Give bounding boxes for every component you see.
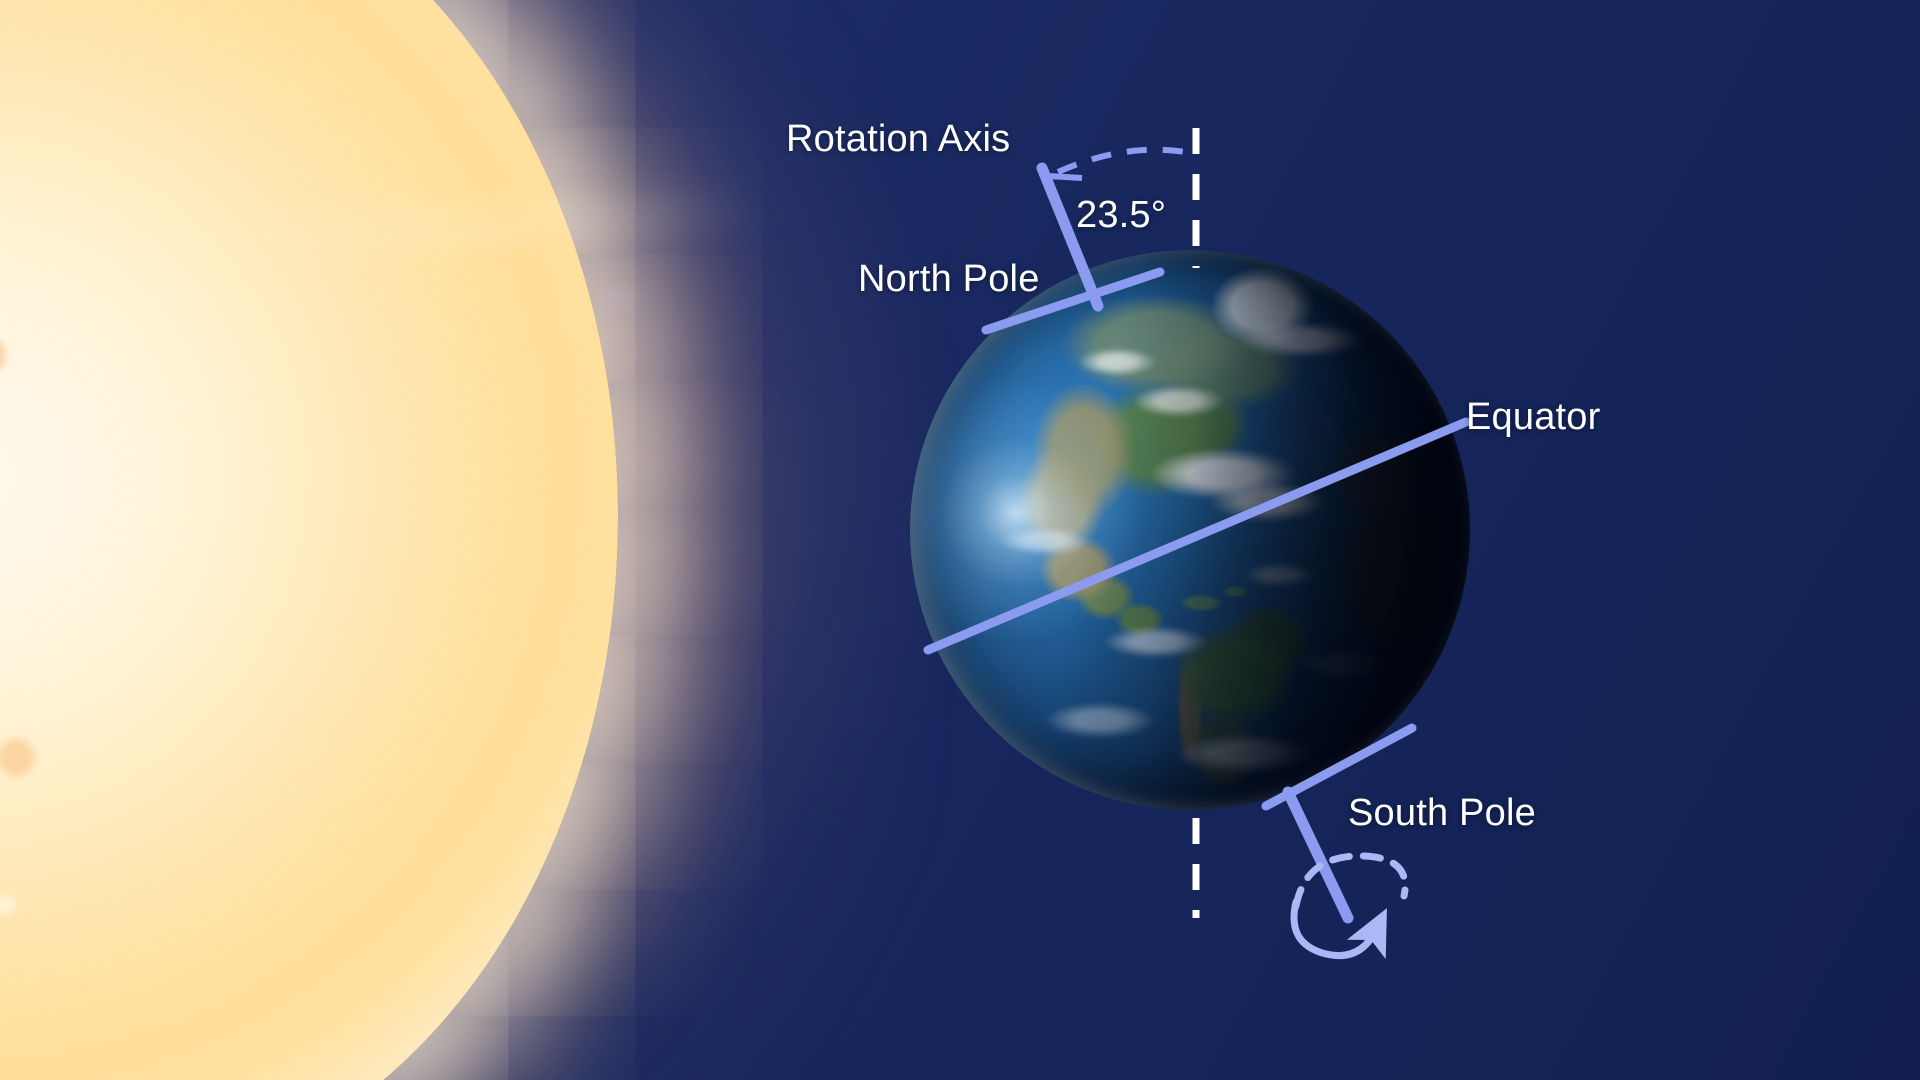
tilt-angle-arc (1058, 150, 1196, 172)
rotation-direction-arc-solid (1294, 902, 1376, 956)
rotation-axis-line-upper (1042, 168, 1098, 306)
annotation-overlay (0, 0, 1920, 1080)
tilt-arc-tick (1048, 176, 1082, 178)
diagram-scene: Rotation Axis 23.5° North Pole Equator S… (0, 0, 1920, 1080)
label-north-pole: North Pole (858, 258, 1040, 301)
label-equator: Equator (1466, 396, 1601, 439)
label-tilt-angle: 23.5° (1076, 194, 1166, 237)
label-rotation-axis: Rotation Axis (786, 118, 1010, 161)
label-south-pole: South Pole (1348, 792, 1536, 835)
rotation-direction-arc-dashed (1296, 856, 1405, 906)
equator-line (928, 422, 1466, 650)
